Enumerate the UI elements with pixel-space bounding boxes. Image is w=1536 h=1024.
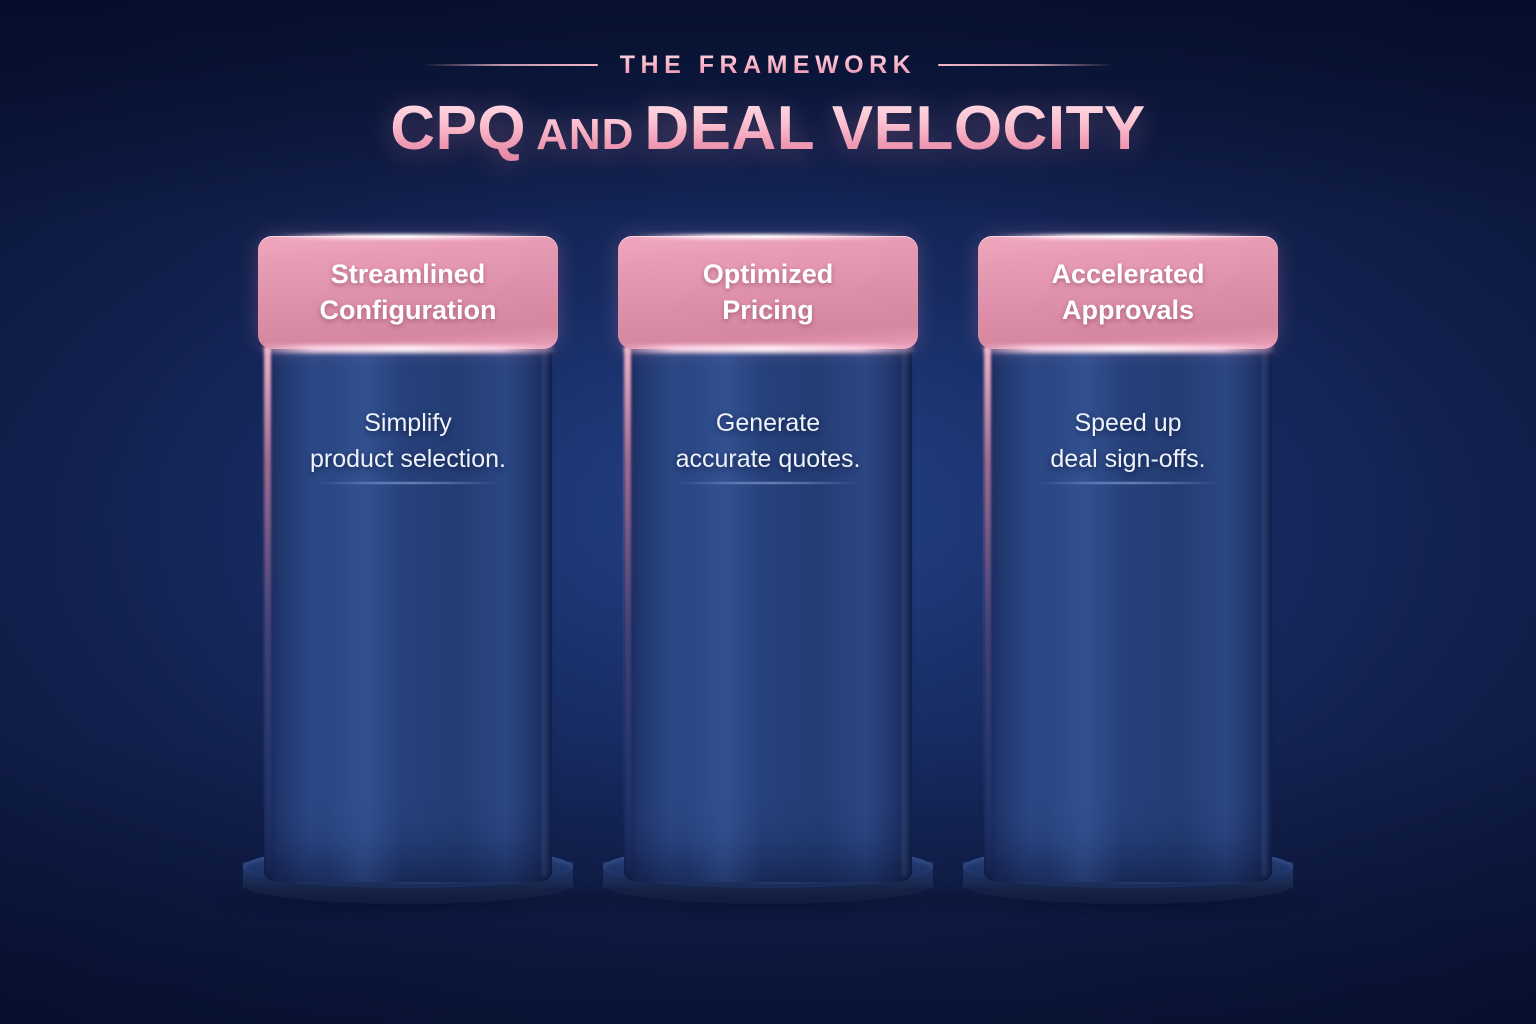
pillar-description: Speed up deal sign-offs. [993,406,1263,477]
pillar-card[interactable]: Speed up deal sign-offs. Accelerated App… [975,236,1281,896]
title-part-two: DEAL VELOCITY [644,94,1145,163]
pillar-description-line1: Speed up [993,406,1263,442]
pillar-title: Accelerated Approvals [1041,257,1214,328]
pillar-header-plate[interactable]: Streamlined Configuration [258,236,558,349]
pillar-description-line1: Generate [633,406,903,442]
pillar-title-line1: Optimized [703,257,834,293]
title-connector: AND [536,110,634,159]
header-top-glow [274,234,542,239]
pillar-description-line2: product selection. [273,442,543,478]
pillar-title: Optimized Pricing [693,257,844,328]
page-title: CPQANDDEAL VELOCITY [0,96,1536,161]
eyebrow-label: THE FRAMEWORK [620,51,916,80]
pillar-title-line1: Streamlined [320,257,497,293]
pillar-description-line1: Simplify [273,406,543,442]
eyebrow-row: THE FRAMEWORK [0,48,1536,82]
title-part-one: CPQ [390,94,526,163]
pillar-description-line2: deal sign-offs. [993,442,1263,478]
pillar-divider [1037,482,1219,484]
pillar-header-plate[interactable]: Optimized Pricing [618,236,918,349]
eyebrow-rule-right [938,64,1114,66]
pillar-title-line2: Approvals [1051,293,1204,329]
pillar-card[interactable]: Generate accurate quotes. Optimized Pric… [615,236,921,896]
pillar-divider [677,482,859,484]
eyebrow-rule-left [422,64,598,66]
pillar-title-line2: Configuration [320,293,497,329]
pillar-description: Generate accurate quotes. [633,406,903,477]
pillar-header-plate[interactable]: Accelerated Approvals [978,236,1278,349]
pillar-description-line2: accurate quotes. [633,442,903,478]
pillar-card[interactable]: Simplify product selection. Streamlined … [255,236,561,896]
header-top-glow [994,234,1262,239]
pillar-divider [317,482,499,484]
slide-header: THE FRAMEWORK CPQANDDEAL VELOCITY [0,48,1536,161]
slide-canvas: THE FRAMEWORK CPQANDDEAL VELOCITY Simpli… [0,0,1536,1024]
pillar-title-line2: Pricing [703,293,834,329]
header-top-glow [634,234,902,239]
pillar-title-line1: Accelerated [1051,257,1204,293]
pillar-title: Streamlined Configuration [310,257,507,328]
pillar-description: Simplify product selection. [273,406,543,477]
